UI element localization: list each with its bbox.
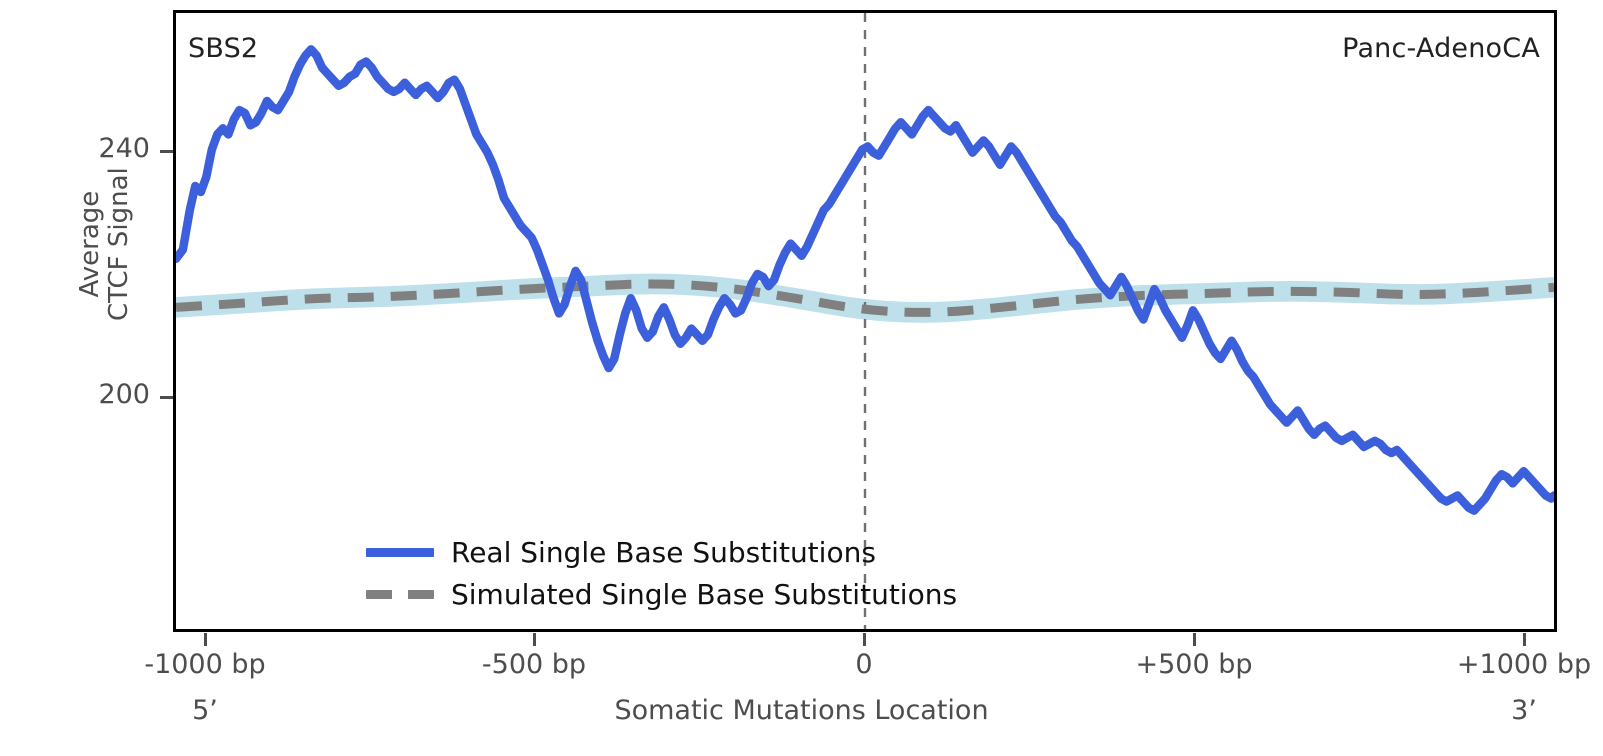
plot-area: SBS2 Panc-AdenoCA Real Single Base Subst…	[173, 10, 1557, 632]
x-tick-mark-minus500	[533, 633, 536, 646]
x-tick-mark-plus1000	[1523, 633, 1526, 646]
y-axis-label: Average CTCF Signal	[76, 134, 134, 354]
y-tick-label-240: 240	[40, 133, 150, 164]
y-axis-label-line2: CTCF Signal	[105, 134, 134, 354]
strand-label-3-prime: 3’	[1511, 695, 1537, 726]
legend-label-simulated: Simulated Single Base Substitutions	[451, 578, 957, 611]
legend-item-real[interactable]: Real Single Base Substitutions	[366, 531, 957, 573]
legend-item-simulated[interactable]: Simulated Single Base Substitutions	[366, 573, 957, 615]
y-tick-mark-200	[160, 396, 173, 399]
x-tick-label-minus1000: -1000 bp	[144, 649, 265, 680]
legend-label-real: Real Single Base Substitutions	[451, 536, 876, 569]
legend-swatch-simulated-line	[366, 590, 434, 599]
legend-swatch-real-line	[366, 548, 434, 557]
x-tick-mark-plus500	[1193, 633, 1196, 646]
x-tick-label-minus500: -500 bp	[482, 649, 586, 680]
y-axis-label-line1: Average	[76, 134, 105, 354]
x-axis-label: Somatic Mutations Location	[0, 695, 1603, 726]
y-tick-label-200: 200	[40, 379, 150, 410]
signature-label: SBS2	[188, 33, 258, 64]
x-tick-mark-zero	[863, 633, 866, 646]
x-tick-label-zero: 0	[855, 649, 872, 680]
strand-label-5-prime: 5’	[192, 695, 218, 726]
cancer-type-label: Panc-AdenoCA	[1342, 33, 1540, 64]
y-tick-mark-240	[160, 150, 173, 153]
simulated-confidence-band	[176, 274, 1554, 323]
x-tick-mark-minus1000	[204, 633, 207, 646]
confidence-band-group	[176, 274, 1554, 323]
x-tick-label-plus1000: +1000 bp	[1457, 649, 1591, 680]
x-tick-label-plus500: +500 bp	[1135, 649, 1252, 680]
legend: Real Single Base Substitutions Simulated…	[366, 531, 957, 615]
ctcf-signal-figure: Average CTCF Signal 240 200 -1000 bp -50…	[0, 0, 1603, 756]
